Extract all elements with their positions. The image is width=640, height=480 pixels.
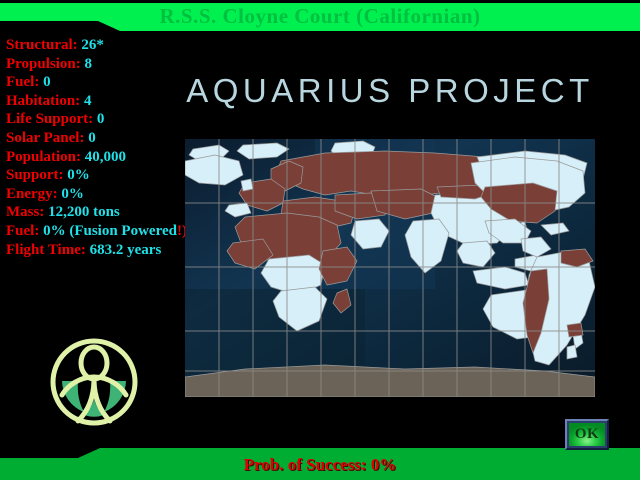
game-screen: R.S.S. Cloyne Court (Californian) Struct… — [0, 0, 640, 480]
stat-row: Structural: 26* — [6, 36, 216, 55]
stat-label: Fuel: — [6, 223, 39, 239]
ok-button[interactable]: OK — [565, 419, 609, 450]
stat-row: Life Support: 0 — [6, 110, 216, 129]
stat-value: 0 — [43, 74, 51, 90]
page-title: AQUARIUS PROJECT — [185, 72, 595, 110]
stat-label: Flight Time: — [6, 242, 86, 258]
stat-label: Fuel: — [6, 74, 39, 90]
stat-label: Energy: — [6, 186, 58, 202]
ok-button-face: OK — [569, 423, 605, 446]
stat-value: 0 — [97, 111, 105, 127]
stat-value: 26* — [81, 37, 104, 53]
probability-of-success-status: Prob. of Success: 0% — [0, 455, 640, 475]
window-title: R.S.S. Cloyne Court (Californian) — [0, 4, 640, 29]
stat-value: 683.2 years — [90, 242, 162, 258]
stat-label: Mass: — [6, 204, 44, 220]
stat-label: Structural: — [6, 37, 78, 53]
world-map[interactable] — [185, 139, 595, 397]
stat-value: 8 — [85, 56, 93, 72]
stat-label: Life Support: — [6, 111, 93, 127]
world-map-svg — [185, 139, 595, 397]
stat-label: Habitation: — [6, 93, 80, 109]
aquarius-project-emblem-icon — [48, 337, 140, 427]
stat-row: Propulsion: 8 — [6, 55, 216, 74]
stat-label: Support: — [6, 167, 64, 183]
stat-label: Propulsion: — [6, 56, 81, 72]
stat-label: Solar Panel: — [6, 130, 84, 146]
stat-value: 0% — [61, 186, 84, 202]
ok-button-label: OK — [575, 426, 599, 443]
stat-value: 0% (Fusion Powered — [43, 223, 177, 239]
stat-value: 12,200 tons — [48, 204, 120, 220]
stat-value: 0% — [67, 167, 90, 183]
stat-value: 0 — [88, 130, 96, 146]
stat-value: 4 — [84, 93, 92, 109]
stat-label: Population: — [6, 149, 81, 165]
stat-value: 40,000 — [85, 149, 126, 165]
